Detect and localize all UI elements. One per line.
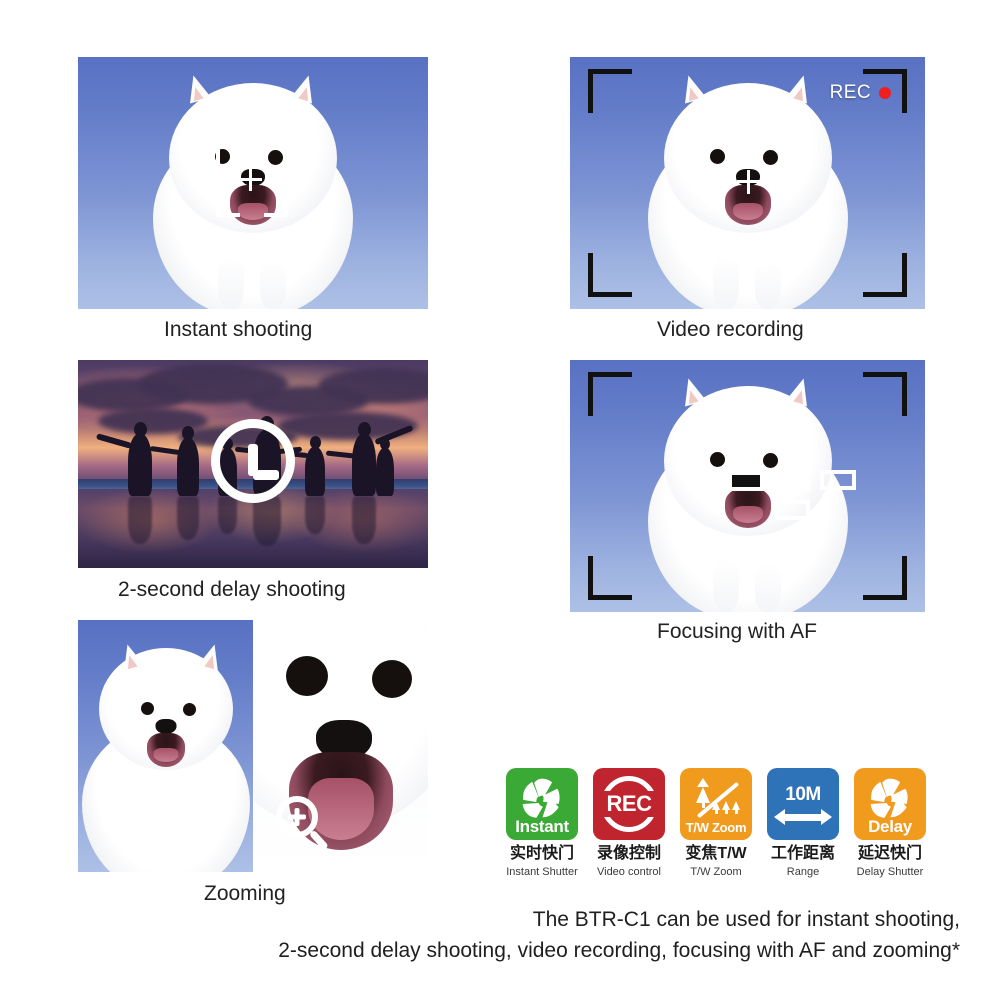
badge-label-en: Range xyxy=(787,866,819,878)
shutter-icon xyxy=(867,775,913,821)
badge-delay-shutter[interactable]: Delay 延迟快门 Delay Shutter xyxy=(851,768,929,878)
zoom-in-icon[interactable] xyxy=(276,796,318,838)
viewfinder-corner-top-left xyxy=(588,69,632,113)
af-point-box-2 xyxy=(774,472,810,492)
rec-status-indicator: REC xyxy=(830,82,891,104)
badge-tile-delay: Delay xyxy=(854,768,926,840)
badge-instant-shutter[interactable]: Instant 实时快门 Instant Shutter xyxy=(503,768,581,878)
badge-label-en: Instant Shutter xyxy=(506,866,578,878)
crosshair-icon xyxy=(737,170,761,194)
viewfinder-corner-bottom-right xyxy=(863,253,907,297)
badge-tile-rec: REC xyxy=(593,768,665,840)
badge-label-cn: 录像控制 xyxy=(597,845,661,863)
panel-instant-shooting xyxy=(78,57,428,309)
rec-label-text: REC xyxy=(830,82,871,104)
feature-badge-row: Instant 实时快门 Instant Shutter REC 录像控制 Vi… xyxy=(503,768,929,878)
viewfinder-corner-top-right xyxy=(863,372,907,416)
caption-instant-shooting: Instant shooting xyxy=(164,318,312,342)
badge-tile-word: T/W Zoom xyxy=(686,821,746,840)
badge-label-en: T/W Zoom xyxy=(690,866,741,878)
badge-label-cn: 实时快门 xyxy=(510,845,574,863)
badge-label-cn: 变焦T/W xyxy=(685,845,746,863)
badge-range[interactable]: 10M 工作距离 Range xyxy=(764,768,842,878)
badge-tile-word: Instant xyxy=(515,818,569,840)
badge-label-en: Delay Shutter xyxy=(857,866,924,878)
viewfinder-corner-top-left xyxy=(588,372,632,416)
viewfinder-corner-bottom-left xyxy=(588,253,632,297)
shutter-icon xyxy=(519,775,565,821)
product-description-line-1: The BTR-C1 can be used for instant shoot… xyxy=(533,905,960,935)
product-description-line-2: 2-second delay shooting, video recording… xyxy=(278,936,960,966)
panel-focusing-af xyxy=(570,360,925,612)
af-point-box-3 xyxy=(820,470,856,490)
zoom-in-view xyxy=(254,620,428,872)
badge-label-en: Video control xyxy=(597,866,661,878)
viewfinder-corner-bottom-right xyxy=(863,556,907,600)
caption-focusing-af: Focusing with AF xyxy=(657,620,817,644)
rec-dot-icon xyxy=(879,87,891,99)
badge-tile-word: Delay xyxy=(868,818,912,840)
caption-video-recording: Video recording xyxy=(657,318,804,342)
badge-tw-zoom[interactable]: T/W Zoom 变焦T/W T/W Zoom xyxy=(677,768,755,878)
badge-tile-word: REC xyxy=(607,791,652,817)
zoom-out-view xyxy=(78,620,253,872)
badge-video-control[interactable]: REC 录像控制 Video control xyxy=(590,768,668,878)
puppy-photo-closeup xyxy=(254,620,428,872)
caption-delay-shooting: 2-second delay shooting xyxy=(118,578,346,602)
panel-delay-shooting xyxy=(78,360,428,568)
badge-tile-tw-zoom: T/W Zoom xyxy=(680,768,752,840)
panel-video-recording: REC xyxy=(570,57,925,309)
af-point-box-1 xyxy=(728,471,764,491)
caption-zooming: Zooming xyxy=(204,882,286,906)
delay-timer-icon xyxy=(211,419,295,503)
badge-tile-word: 10M xyxy=(785,784,820,806)
badge-tile-range: 10M xyxy=(767,768,839,840)
range-arrow-icon: 10M xyxy=(767,768,839,840)
panel-zooming xyxy=(78,620,428,872)
zoom-out-icon[interactable] xyxy=(100,796,142,838)
puppy-photo-wide xyxy=(78,620,253,872)
viewfinder-corner-bottom-left xyxy=(588,556,632,600)
badge-tile-instant: Instant xyxy=(506,768,578,840)
af-point-box-4 xyxy=(774,500,810,520)
badge-label-cn: 工作距离 xyxy=(771,845,835,863)
badge-label-cn: 延迟快门 xyxy=(858,845,922,863)
crosshair-icon xyxy=(240,169,262,191)
